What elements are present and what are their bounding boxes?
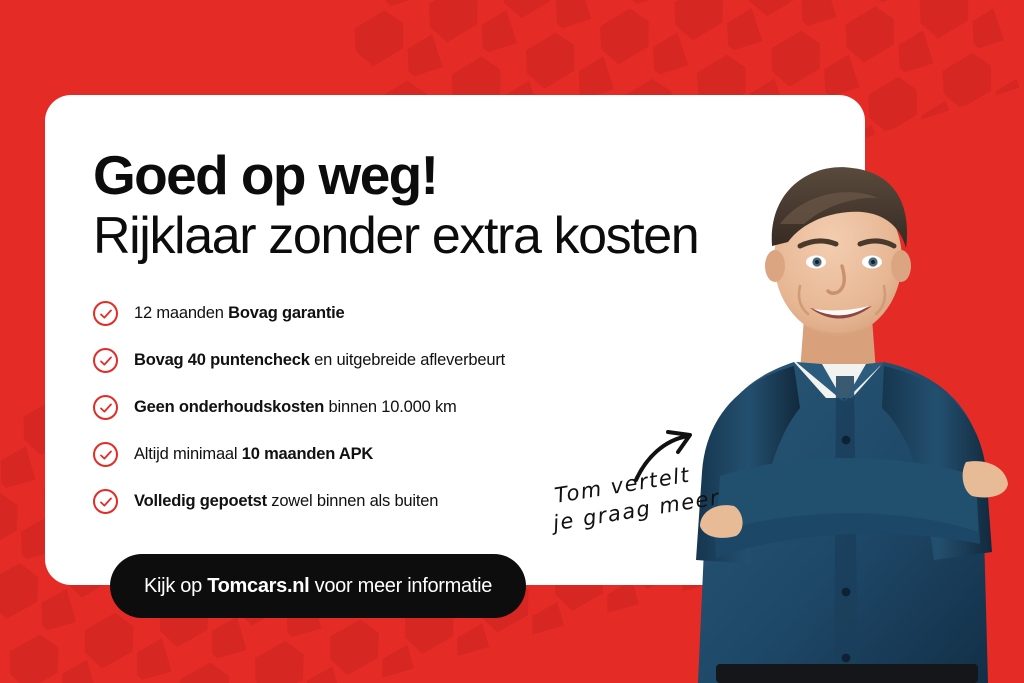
list-item-label: Bovag 40 puntencheck en uitgebreide afle…	[134, 351, 505, 370]
check-circle-icon	[93, 395, 118, 420]
list-item: Geen onderhoudskosten binnen 10.000 km	[93, 384, 693, 431]
content-card: Goed op weg! Rijklaar zonder extra koste…	[45, 95, 865, 585]
check-circle-icon	[93, 489, 118, 514]
promo-banner: Goed op weg! Rijklaar zonder extra koste…	[0, 0, 1024, 683]
list-item-label: Altijd minimaal 10 maanden APK	[134, 445, 373, 464]
check-circle-icon	[93, 348, 118, 373]
headline-line-1: Goed op weg!	[93, 145, 698, 205]
list-item-label: Volledig gepoetst zowel binnen als buite…	[134, 492, 438, 511]
cta-label: Kijk op Tomcars.nl voor meer informatie	[144, 575, 492, 598]
check-circle-icon	[93, 442, 118, 467]
list-item: 12 maanden Bovag garantie	[93, 290, 693, 337]
list-item: Bovag 40 puntencheck en uitgebreide afle…	[93, 337, 693, 384]
list-item-label: Geen onderhoudskosten binnen 10.000 km	[134, 398, 457, 417]
cta-button[interactable]: Kijk op Tomcars.nl voor meer informatie	[110, 554, 526, 618]
page-title: Goed op weg! Rijklaar zonder extra koste…	[93, 145, 698, 267]
list-item-label: 12 maanden Bovag garantie	[134, 304, 345, 323]
check-circle-icon	[93, 301, 118, 326]
headline-line-2: Rijklaar zonder extra kosten	[93, 205, 698, 267]
list-item: Altijd minimaal 10 maanden APK	[93, 431, 693, 478]
